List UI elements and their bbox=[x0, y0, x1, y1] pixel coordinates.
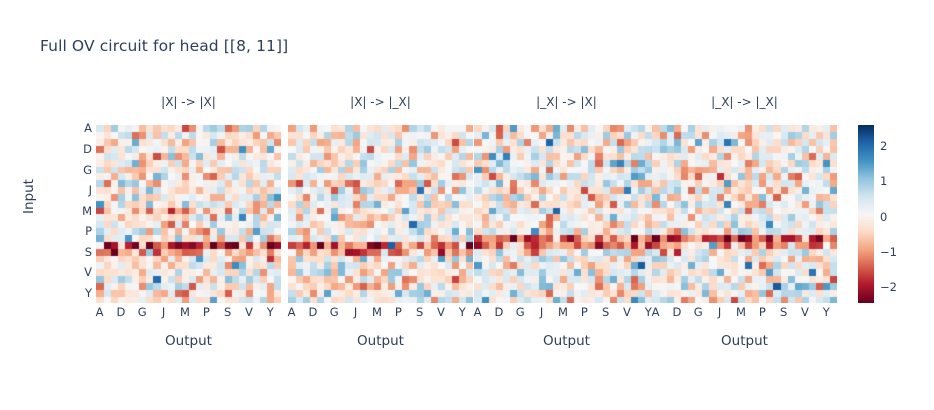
x-tick-label: J bbox=[718, 305, 721, 319]
x-tick-label: A bbox=[96, 305, 104, 319]
x-tick-label: D bbox=[116, 305, 125, 319]
x-tick-label: V bbox=[437, 305, 445, 319]
x-tick-label: P bbox=[203, 305, 210, 319]
x-tick-label: D bbox=[308, 305, 317, 319]
panel-title: |_X| -> |X| bbox=[474, 95, 659, 109]
x-tick-label: G bbox=[330, 305, 339, 319]
x-tick-label: P bbox=[581, 305, 588, 319]
x-tick-label: M bbox=[180, 305, 190, 319]
x-axis-ticklabels: ADGJMPSVY bbox=[288, 305, 473, 321]
panel-title: |X| -> |_X| bbox=[288, 95, 473, 109]
x-axis-label: Output bbox=[96, 333, 281, 349]
x-axis-label: Output bbox=[474, 333, 659, 349]
x-tick-label: Y bbox=[823, 305, 830, 319]
x-tick-label: P bbox=[759, 305, 766, 319]
y-tick-label: D bbox=[83, 142, 92, 156]
y-tick-label: P bbox=[85, 224, 92, 238]
heatmap-image bbox=[96, 125, 281, 303]
x-tick-label: M bbox=[736, 305, 746, 319]
x-tick-label: P bbox=[395, 305, 402, 319]
colorbar-tick-label: 2 bbox=[880, 139, 887, 153]
x-tick-label: V bbox=[801, 305, 809, 319]
x-axis-ticklabels: ADGJMPSVY bbox=[652, 305, 837, 321]
x-tick-label: V bbox=[623, 305, 631, 319]
colorbar-tick-label: 1 bbox=[880, 174, 887, 188]
x-tick-label: J bbox=[162, 305, 165, 319]
panel-title: |_X| -> |_X| bbox=[652, 95, 837, 109]
colorbar-ticklabels: 210−1−2 bbox=[878, 125, 908, 303]
colorbar-tick-label: −2 bbox=[880, 280, 897, 294]
panel-title: |X| -> |X| bbox=[96, 95, 281, 109]
x-axis-ticklabels: ADGJMPSVY bbox=[474, 305, 659, 321]
x-axis-label: Output bbox=[288, 333, 473, 349]
figure-canvas: Full OV circuit for head [[8, 11]] Input… bbox=[0, 0, 934, 410]
colorbar-tick-label: 0 bbox=[880, 210, 887, 224]
colorbar-tick-label: −1 bbox=[880, 245, 897, 259]
colorbar-gradient bbox=[858, 125, 874, 303]
x-tick-label: A bbox=[288, 305, 296, 319]
heatmap-image bbox=[474, 125, 659, 303]
y-tick-label: G bbox=[83, 163, 92, 177]
x-tick-label: S bbox=[224, 305, 231, 319]
x-tick-label: J bbox=[354, 305, 357, 319]
x-tick-label: A bbox=[652, 305, 660, 319]
y-tick-label: Y bbox=[85, 286, 92, 300]
x-tick-label: J bbox=[540, 305, 543, 319]
x-tick-label: M bbox=[372, 305, 382, 319]
x-tick-label: S bbox=[780, 305, 787, 319]
y-tick-label: M bbox=[82, 204, 92, 218]
x-tick-label: M bbox=[558, 305, 568, 319]
x-tick-label: S bbox=[416, 305, 423, 319]
y-tick-label: J bbox=[89, 183, 92, 197]
x-tick-label: G bbox=[516, 305, 525, 319]
page-title: Full OV circuit for head [[8, 11]] bbox=[40, 37, 288, 55]
y-axis-ticklabels: ADGJMPSVY bbox=[74, 125, 92, 303]
x-tick-label: A bbox=[474, 305, 482, 319]
x-tick-label: G bbox=[694, 305, 703, 319]
x-tick-label: G bbox=[138, 305, 147, 319]
y-tick-label: A bbox=[84, 121, 92, 135]
x-axis-ticklabels: ADGJMPSVY bbox=[96, 305, 281, 321]
x-axis-label: Output bbox=[652, 333, 837, 349]
x-tick-label: S bbox=[602, 305, 609, 319]
colorbar: 210−1−2 bbox=[858, 125, 874, 303]
x-tick-label: D bbox=[494, 305, 503, 319]
x-tick-label: Y bbox=[459, 305, 466, 319]
y-axis-label: Input bbox=[21, 179, 37, 214]
x-tick-label: V bbox=[245, 305, 253, 319]
heatmap-image bbox=[288, 125, 473, 303]
heatmap-image bbox=[652, 125, 837, 303]
y-tick-label: S bbox=[85, 245, 92, 259]
x-tick-label: D bbox=[672, 305, 681, 319]
y-tick-label: V bbox=[84, 265, 92, 279]
x-tick-label: Y bbox=[267, 305, 274, 319]
